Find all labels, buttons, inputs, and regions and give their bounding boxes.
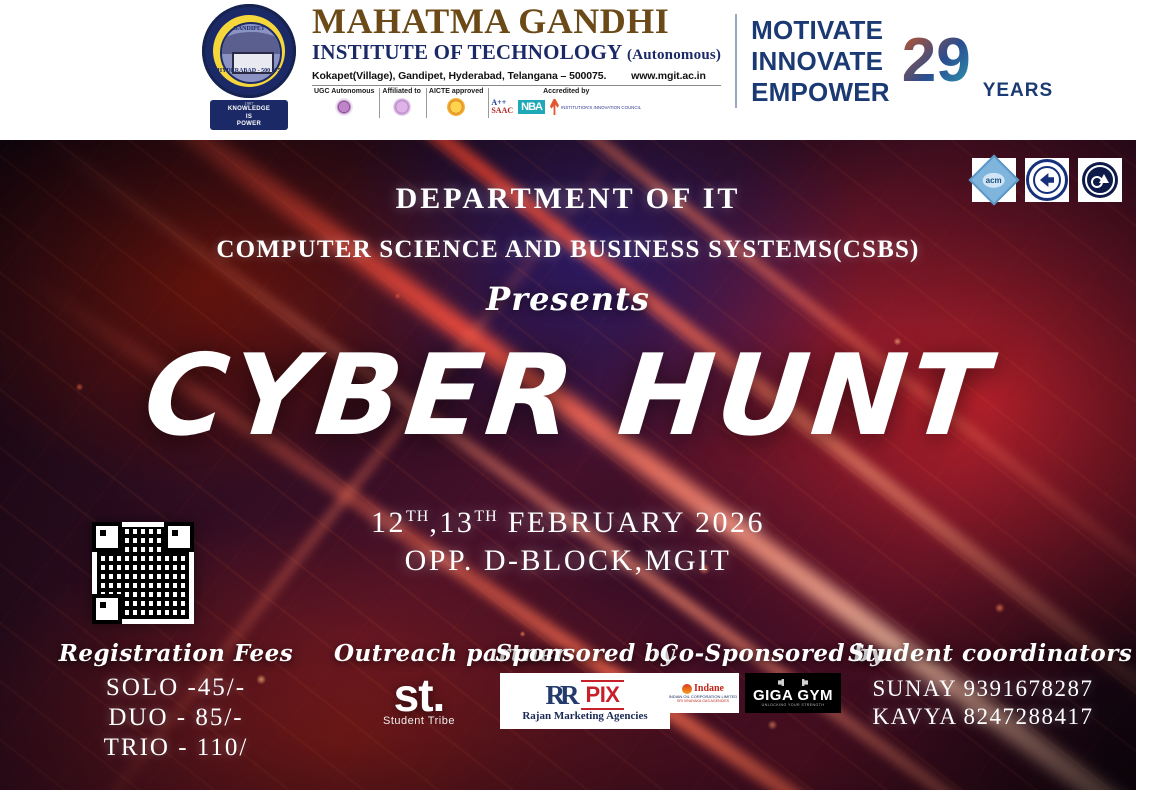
accreditation-affiliated-label: Affiliated to bbox=[382, 88, 421, 95]
registration-fees-label: Registration Fees bbox=[46, 640, 306, 667]
ugc-seal-icon bbox=[335, 98, 353, 116]
student-tribe-name: Student Tribe bbox=[334, 715, 504, 727]
crest-top-text: GANDIPET bbox=[196, 26, 302, 32]
outreach-partner-label: Outreach partner bbox=[334, 640, 504, 667]
dumbbell-icon bbox=[778, 679, 808, 686]
co-sponsor-block: Co-Sponsored by Indane INDIAN OIL CORPOR… bbox=[660, 640, 848, 713]
giga-gym-name: GIGA GYM bbox=[753, 688, 833, 703]
rajan-marketing-name: Rajan Marketing Agencies bbox=[522, 710, 647, 722]
pix-wordmark: PIX bbox=[581, 680, 625, 710]
indane-logo: Indane INDIAN OIL CORPORATION LIMITED SR… bbox=[667, 673, 739, 713]
iic-label: INSTITUTION'S INNOVATION COUNCIL bbox=[561, 105, 641, 110]
institute-website: www.mgit.ac.in bbox=[631, 70, 706, 82]
giga-gym-logo: GIGA GYM UNLOCKING YOUR STRENGTH bbox=[745, 673, 841, 713]
institute-address: Kokapet(Village), Gandipet, Hyderabad, T… bbox=[312, 70, 721, 82]
student-tribe-logo: st. bbox=[334, 673, 504, 717]
institute-letterhead: GANDIPET HYDERABAD - 500 075 1997 KNOWLE… bbox=[0, 0, 1158, 140]
accreditation-aicte-label: AICTE approved bbox=[429, 88, 483, 95]
student-coordinators-block: Student coordinators SUNAY 9391678287 KA… bbox=[848, 640, 1118, 731]
coordinator-entry: SUNAY 9391678287 bbox=[848, 675, 1118, 703]
anniversary-unit: YEARS bbox=[983, 80, 1053, 108]
rr-monogram: RR bbox=[546, 682, 575, 709]
accreditation-accredited-by: Accredited by A++ SAAC NBA INSTITUTION'S… bbox=[489, 88, 646, 118]
institute-autonomous-tag: (Autonomous) bbox=[627, 47, 721, 63]
outreach-partner-block: Outreach partner st. Student Tribe bbox=[334, 640, 504, 727]
aicte-seal-icon bbox=[447, 98, 465, 116]
accreditation-affiliated: Affiliated to bbox=[380, 88, 427, 118]
anniversary-number: 29 bbox=[902, 32, 971, 90]
coordinator-entry: KAVYA 8247288417 bbox=[848, 703, 1118, 731]
sponsored-by-label: Sponsored by bbox=[492, 640, 678, 667]
accreditation-ugc: UGC Autonomous bbox=[312, 88, 380, 118]
accreditation-aicte: AICTE approved bbox=[427, 88, 489, 118]
event-poster: acm DEPARTMENT OF IT COMPUTER SCIENCE AN… bbox=[0, 140, 1136, 790]
iic-logo: INSTITUTION'S INNOVATION COUNCIL bbox=[550, 99, 641, 115]
co-sponsored-by-label: Co-Sponsored by bbox=[660, 640, 848, 667]
crest-motto: KNOWLEDGEISPOWER bbox=[210, 106, 288, 129]
crest-bottom-text: HYDERABAD - 500 075 bbox=[196, 68, 302, 74]
event-title: CYBER HUNT bbox=[0, 340, 1136, 452]
osmania-seal-icon bbox=[393, 98, 411, 116]
address-text: Kokapet(Village), Gandipet, Hyderabad, T… bbox=[312, 70, 606, 82]
department-heading: DEPARTMENT OF IT bbox=[0, 182, 1136, 216]
qr-pattern bbox=[97, 527, 189, 619]
program-heading: COMPUTER SCIENCE AND BUSINESS SYSTEMS(CS… bbox=[0, 236, 1136, 264]
institute-title-line1: MAHATMA GANDHI bbox=[312, 2, 721, 40]
rajan-marketing-logo: RR PIX Rajan Marketing Agencies bbox=[500, 673, 670, 729]
indane-sub2: SRI VINAYAKA GAS AGENCIES bbox=[677, 699, 729, 703]
registration-fees-list: SOLO -45/- DUO - 85/- TRIO - 110/ bbox=[46, 673, 306, 763]
registration-fees-block: Registration Fees SOLO -45/- DUO - 85/- … bbox=[46, 640, 306, 763]
tagline-words: MOTIVATE INNOVATE EMPOWER bbox=[751, 15, 890, 108]
fee-item: DUO - 85/- bbox=[46, 703, 306, 733]
student-coordinators-list: SUNAY 9391678287 KAVYA 8247288417 bbox=[848, 675, 1118, 731]
tagline-line-2: INNOVATE bbox=[751, 46, 890, 77]
giga-gym-tagline: UNLOCKING YOUR STRENGTH bbox=[762, 703, 825, 707]
institute-name-block: MAHATMA GANDHI INSTITUTE OF TECHNOLOGY (… bbox=[302, 2, 721, 118]
fee-item: TRIO - 110/ bbox=[46, 733, 306, 763]
accreditation-accredited-label: Accredited by bbox=[543, 88, 589, 95]
presents-script: Presents bbox=[0, 280, 1136, 318]
date-ordinal2: TH bbox=[474, 508, 497, 525]
institute-title-line2-text: INSTITUTE OF TECHNOLOGY bbox=[312, 40, 622, 64]
poster-page: GANDIPET HYDERABAD - 500 075 1997 KNOWLE… bbox=[0, 0, 1158, 806]
tagline-line-1: MOTIVATE bbox=[751, 15, 890, 46]
naac-logo: A++ SAAC bbox=[491, 99, 513, 115]
naac-label: SAAC bbox=[491, 107, 513, 115]
institute-crest-logo: GANDIPET HYDERABAD - 500 075 1997 KNOWLE… bbox=[196, 2, 302, 136]
date-ordinal1: TH bbox=[406, 508, 429, 525]
accreditation-row: UGC Autonomous Affiliated to AICTE appro… bbox=[312, 85, 721, 118]
indane-flame-icon bbox=[682, 684, 692, 694]
fee-item: SOLO -45/- bbox=[46, 673, 306, 703]
date-month-year: FEBRUARY 2026 bbox=[498, 506, 765, 539]
poster-footer: Registration Fees SOLO -45/- DUO - 85/- … bbox=[0, 640, 1136, 772]
date-day1: 12 bbox=[371, 506, 406, 539]
nba-logo: NBA bbox=[518, 100, 545, 114]
iic-figure-icon bbox=[550, 99, 559, 115]
tagline-line-3: EMPOWER bbox=[751, 77, 890, 108]
sponsor-block: Sponsored by RR PIX Rajan Marketing Agen… bbox=[492, 640, 678, 729]
indane-name: Indane bbox=[694, 683, 724, 694]
anniversary-tagline: MOTIVATE INNOVATE EMPOWER 29 YEARS bbox=[735, 14, 1053, 108]
accreditation-ugc-label: UGC Autonomous bbox=[314, 88, 374, 95]
date-separator: ,13 bbox=[429, 506, 474, 539]
institute-title-line2: INSTITUTE OF TECHNOLOGY (Autonomous) bbox=[312, 40, 721, 67]
registration-qr-code[interactable] bbox=[92, 522, 194, 624]
student-coordinators-label: Student coordinators bbox=[848, 640, 1118, 667]
